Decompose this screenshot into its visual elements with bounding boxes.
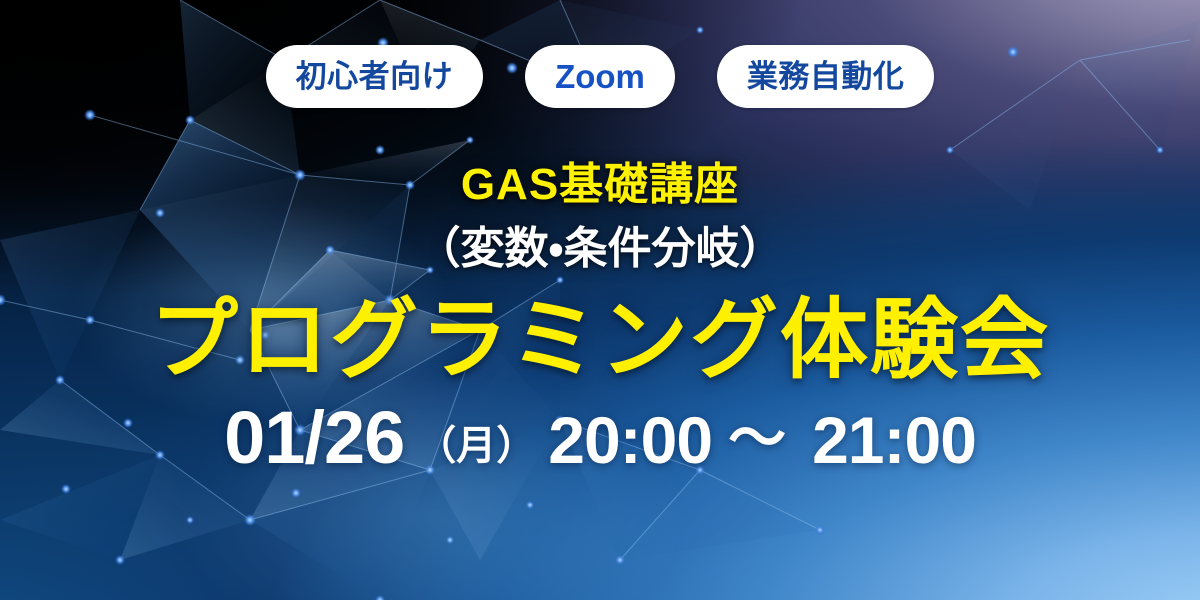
event-date: 01/26 <box>224 401 404 475</box>
event-title: プログラミング体験会 <box>150 294 1050 386</box>
event-end-time: 21:00 <box>812 407 976 473</box>
badge-automation-label: 業務自動化 <box>747 61 905 92</box>
schedule-line: 01/26 （月） 20:00 〜 21:00 <box>224 401 976 475</box>
badge-automation[interactable]: 業務自動化 <box>717 45 935 108</box>
time-range-separator: 〜 <box>728 410 786 468</box>
badge-beginner-label: 初心者向け <box>296 61 454 92</box>
banner-content: 初心者向け Zoom 業務自動化 GAS基礎講座 （変数・条件分岐） プログラミ… <box>0 0 1200 600</box>
badge-zoom-label: Zoom <box>555 60 645 93</box>
badge-row: 初心者向け Zoom 業務自動化 <box>266 45 935 108</box>
topics-subheading: （変数・条件分岐） <box>417 226 784 272</box>
course-heading: GAS基礎講座 <box>461 162 739 208</box>
seminar-banner: 初心者向け Zoom 業務自動化 GAS基礎講座 （変数・条件分岐） プログラミ… <box>0 0 1200 600</box>
badge-zoom[interactable]: Zoom <box>525 45 675 108</box>
event-start-time: 20:00 <box>548 407 712 473</box>
badge-beginner[interactable]: 初心者向け <box>266 45 484 108</box>
event-day-of-week: （月） <box>416 426 536 466</box>
